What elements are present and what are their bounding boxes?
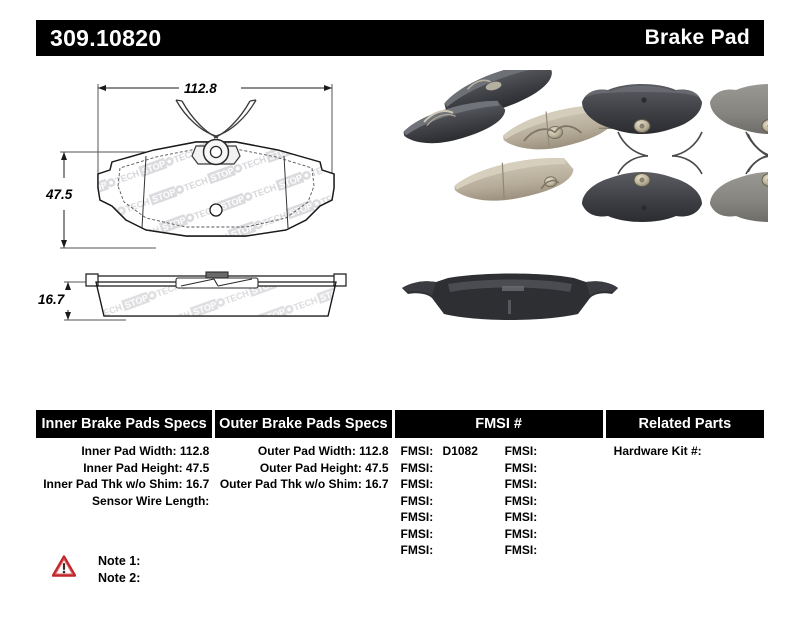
page-title: Brake Pad <box>645 26 750 50</box>
fmsi-row: FMSI: <box>505 443 603 460</box>
fmsi-label: FMSI: <box>505 510 538 524</box>
fmsi-column-left: FMSI: D1082 FMSI: FMSI: FMSI: FMSI: <box>395 443 499 559</box>
height-dimension-label: 47.5 <box>45 187 73 202</box>
column-header-related-parts: Related Parts <box>606 410 764 438</box>
fmsi-row: FMSI: <box>401 542 499 559</box>
fmsi-label: FMSI: <box>401 527 434 541</box>
product-photos <box>396 70 768 370</box>
column-header-outer: Outer Brake Pads Specs <box>215 410 391 438</box>
fmsi-label: FMSI: <box>505 543 538 557</box>
spec-row: Inner Pad Height: 47.5 <box>36 460 212 477</box>
notes-text: Note 1: Note 2: <box>98 553 140 587</box>
part-number: 309.10820 <box>50 25 161 52</box>
note-line-1: Note 1: <box>98 553 140 570</box>
related-part-row: Hardware Kit #: <box>606 443 764 460</box>
spec-value: 16.7 <box>186 477 209 491</box>
drawing-svg: STOP TECH 112.8 <box>36 70 396 370</box>
spec-row: Inner Pad Thk w/o Shim: 16.7 <box>36 476 212 493</box>
fmsi-row: FMSI: D1082 <box>401 443 499 460</box>
warning-triangle-icon <box>52 555 76 577</box>
fmsi-label: FMSI: <box>401 494 434 508</box>
fmsi-row: FMSI: <box>505 493 603 510</box>
photo-pad-edge-view <box>402 274 618 321</box>
fmsi-column-right: FMSI: FMSI: FMSI: FMSI: FMSI: <box>499 443 603 559</box>
column-header-fmsi: FMSI # <box>395 410 603 438</box>
spec-label: Inner Pad Height: <box>83 461 182 475</box>
fmsi-label: FMSI: <box>401 461 434 475</box>
spec-table: Inner Brake Pads Specs Outer Brake Pads … <box>36 410 764 559</box>
related-part-label: Hardware Kit #: <box>614 444 702 458</box>
spec-value: 16.7 <box>365 477 388 491</box>
fmsi-row: FMSI: <box>401 526 499 543</box>
fmsi-row: FMSI: <box>505 526 603 543</box>
wire-clip <box>176 100 256 138</box>
fmsi-label: FMSI: <box>401 543 434 557</box>
fmsi-row: FMSI: <box>505 509 603 526</box>
fmsi-row: FMSI: <box>401 493 499 510</box>
fmsi-label: FMSI: <box>401 510 434 524</box>
fmsi-value: D1082 <box>443 444 478 458</box>
fmsi-row: FMSI: <box>505 542 603 559</box>
fmsi-row: FMSI: <box>401 460 499 477</box>
spec-label: Inner Pad Width: <box>81 444 176 458</box>
spec-label: Outer Pad Thk w/o Shim: <box>220 477 362 491</box>
fmsi-row: FMSI: <box>401 476 499 493</box>
fmsi-label: FMSI: <box>505 494 538 508</box>
photo-group-angled <box>401 70 619 205</box>
fmsi-cell: FMSI: D1082 FMSI: FMSI: FMSI: FMSI: <box>395 443 603 559</box>
fmsi-row: FMSI: <box>505 476 603 493</box>
column-header-inner: Inner Brake Pads Specs <box>36 410 212 438</box>
fmsi-label: FMSI: <box>505 444 538 458</box>
outer-specs-cell: Outer Pad Width: 112.8 Outer Pad Height:… <box>215 443 391 559</box>
fmsi-label: FMSI: <box>505 461 538 475</box>
spec-value: 47.5 <box>365 461 388 475</box>
spec-label: Sensor Wire Length: <box>92 494 209 508</box>
pad-side-view <box>86 272 346 325</box>
photo-group-grid <box>582 84 768 222</box>
spec-row: Outer Pad Thk w/o Shim: 16.7 <box>215 476 391 493</box>
fmsi-row: FMSI: <box>505 460 603 477</box>
spec-row: Inner Pad Width: 112.8 <box>36 443 212 460</box>
related-parts-cell: Hardware Kit #: <box>606 443 764 559</box>
fmsi-label: FMSI: <box>505 527 538 541</box>
spec-label: Outer Pad Width: <box>258 444 356 458</box>
header-bar: 309.10820 Brake Pad <box>36 20 764 56</box>
spec-value: 112.8 <box>359 444 388 458</box>
fmsi-label: FMSI: <box>401 444 434 458</box>
fmsi-label: FMSI: <box>505 477 538 491</box>
table-body-row: Inner Pad Width: 112.8 Inner Pad Height:… <box>36 443 764 559</box>
inner-specs-cell: Inner Pad Width: 112.8 Inner Pad Height:… <box>36 443 212 559</box>
clip-wires <box>618 132 768 174</box>
spec-row: Outer Pad Height: 47.5 <box>215 460 391 477</box>
spec-label: Inner Pad Thk w/o Shim: <box>43 477 182 491</box>
note-line-2: Note 2: <box>98 570 140 587</box>
technical-drawing: STOP TECH 112.8 <box>36 70 396 370</box>
spec-value: 47.5 <box>186 461 209 475</box>
fmsi-label: FMSI: <box>401 477 434 491</box>
table-header-row: Inner Brake Pads Specs Outer Brake Pads … <box>36 410 764 438</box>
spec-label: Outer Pad Height: <box>260 461 362 475</box>
photos-svg <box>396 70 768 370</box>
spec-value: 112.8 <box>180 444 209 458</box>
spec-row: Outer Pad Width: 112.8 <box>215 443 391 460</box>
width-dimension-label: 112.8 <box>184 81 217 96</box>
notes-block: Note 1: Note 2: <box>52 553 140 587</box>
fmsi-row: FMSI: <box>401 509 499 526</box>
thickness-dimension-label: 16.7 <box>38 292 66 307</box>
spec-row: Sensor Wire Length: <box>36 493 212 510</box>
